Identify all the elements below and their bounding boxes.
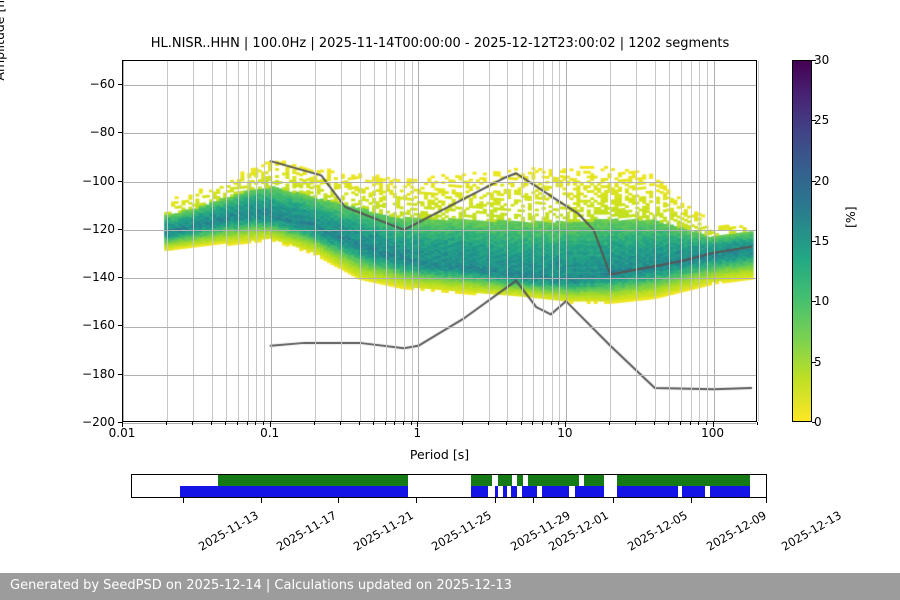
gridline-vertical — [395, 61, 396, 421]
gridline-vertical — [271, 61, 272, 421]
gridline-vertical — [123, 61, 124, 421]
timeline-tick-mark — [416, 498, 417, 503]
gridline-vertical — [552, 61, 553, 421]
gridline-vertical — [522, 61, 523, 421]
timeline-segment-green — [218, 475, 408, 486]
gridline-vertical — [655, 61, 656, 421]
y-axis-tick-label: −100 — [82, 174, 115, 188]
y-axis-label: Amplitude [m²/s⁴/Hz] [dB] — [0, 0, 7, 110]
timeline-segment-blue — [710, 486, 750, 497]
footer-text: Generated by SeedPSD on 2025-12-14 | Cal… — [10, 578, 512, 593]
psd-plot-area — [122, 60, 757, 422]
gridline-vertical — [256, 61, 257, 421]
timeline-date-label: 2025-11-25 — [429, 508, 494, 554]
gridline-horizontal — [123, 230, 756, 231]
timeline-segment-green — [498, 475, 512, 486]
gridline-vertical — [226, 61, 227, 421]
timeline-segment-blue — [542, 486, 569, 497]
y-axis-tick-mark — [118, 132, 122, 133]
colorbar — [792, 60, 812, 422]
gridline-vertical — [412, 61, 413, 421]
gridline-horizontal — [123, 182, 756, 183]
x-axis-tick-mark — [247, 422, 248, 425]
x-axis-tick-mark — [757, 422, 758, 425]
colorbar-tick-mark — [812, 301, 816, 302]
timeline-segment-green — [517, 475, 523, 486]
x-axis-tick-mark — [417, 422, 418, 427]
x-axis-tick-mark — [565, 422, 566, 427]
timeline-segment-blue — [180, 486, 408, 497]
x-axis-tick-mark — [340, 422, 341, 425]
gridline-vertical — [212, 61, 213, 421]
y-axis-tick-label: −80 — [90, 125, 115, 139]
timeline-tick-mark — [183, 498, 184, 503]
gridline-vertical — [758, 61, 759, 421]
gridline-vertical — [559, 61, 560, 421]
y-axis-tick-mark — [118, 181, 122, 182]
gridline-vertical — [681, 61, 682, 421]
gridline-vertical — [238, 61, 239, 421]
x-axis-tick-mark — [263, 422, 264, 425]
x-axis-tick-mark — [192, 422, 193, 425]
gridline-vertical — [315, 61, 316, 421]
timeline-date-label: 2025-12-13 — [779, 508, 844, 554]
timeline-tick-mark — [338, 498, 339, 503]
x-axis-tick-mark — [558, 422, 559, 425]
x-axis-tick-mark — [255, 422, 256, 425]
timeline-segment-blue — [511, 486, 517, 497]
y-axis-tick-mark — [118, 229, 122, 230]
timeline-date-label: 2025-12-05 — [625, 508, 690, 554]
timeline-segment-green — [528, 475, 579, 486]
gridline-vertical — [707, 61, 708, 421]
timeline-tick-mark — [533, 498, 534, 503]
colorbar-tick-mark — [812, 362, 816, 363]
timeline-segment-blue — [471, 486, 488, 497]
x-axis-tick-mark — [488, 422, 489, 425]
x-axis-tick-mark — [532, 422, 533, 425]
x-axis-tick-mark — [166, 422, 167, 425]
gridline-vertical — [360, 61, 361, 421]
footer-bar: Generated by SeedPSD on 2025-12-14 | Cal… — [0, 573, 900, 600]
x-axis-tick-mark — [394, 422, 395, 425]
timeline-tick-mark — [495, 498, 496, 503]
y-axis-tick-label: −180 — [82, 367, 115, 381]
colorbar-tick-label: 25 — [814, 113, 829, 127]
timeline-segment-blue — [522, 486, 538, 497]
timeline-segment-green — [617, 475, 750, 486]
gridline-vertical — [714, 61, 715, 421]
colorbar-tick-mark — [812, 60, 816, 61]
colorbar-tick-mark — [812, 181, 816, 182]
x-axis-tick-mark — [373, 422, 374, 425]
gridline-vertical — [533, 61, 534, 421]
x-axis-tick-mark — [706, 422, 707, 425]
x-axis-tick-mark — [506, 422, 507, 425]
y-axis-tick-mark — [118, 277, 122, 278]
timeline-segment-green — [584, 475, 604, 486]
gridline-horizontal — [123, 133, 756, 134]
x-axis-tick-mark — [654, 422, 655, 425]
gridline-vertical — [264, 61, 265, 421]
colorbar-tick-label: 10 — [814, 294, 829, 308]
gridline-horizontal — [123, 423, 756, 424]
gridline-vertical — [636, 61, 637, 421]
timeline-date-label: 2025-11-21 — [351, 508, 416, 554]
colorbar-label: [%] — [843, 206, 858, 228]
y-axis-tick-mark — [118, 325, 122, 326]
colorbar-tick-label: 30 — [814, 53, 829, 67]
x-axis-tick-mark — [359, 422, 360, 425]
x-axis-tick-mark — [122, 422, 123, 427]
data-availability-timeline[interactable] — [131, 474, 767, 498]
timeline-segment-blue — [575, 486, 604, 497]
noise-model-curves — [123, 61, 758, 423]
gridline-vertical — [374, 61, 375, 421]
colorbar-tick-label: 15 — [814, 234, 829, 248]
timeline-segment-blue — [495, 486, 498, 497]
gridline-vertical — [669, 61, 670, 421]
timeline-segment-blue — [617, 486, 678, 497]
x-axis-tick-mark — [690, 422, 691, 425]
y-axis-tick-label: −160 — [82, 318, 115, 332]
gridline-horizontal — [123, 375, 756, 376]
x-axis-tick-label: 100 — [701, 426, 724, 440]
gridline-vertical — [404, 61, 405, 421]
x-axis-tick-mark — [411, 422, 412, 425]
x-axis-tick-mark — [635, 422, 636, 425]
x-axis-tick-mark — [270, 422, 271, 427]
gridline-vertical — [418, 61, 419, 421]
x-axis-tick-mark — [314, 422, 315, 425]
gridline-vertical — [248, 61, 249, 421]
timeline-tick-mark — [766, 498, 767, 503]
timeline-tick-mark — [613, 498, 614, 503]
gridline-vertical — [566, 61, 567, 421]
gridline-vertical — [507, 61, 508, 421]
gridline-vertical — [699, 61, 700, 421]
x-axis-tick-mark — [609, 422, 610, 425]
colorbar-tick-mark — [812, 120, 816, 121]
x-axis-tick-mark — [385, 422, 386, 425]
y-axis-tick-mark — [118, 374, 122, 375]
x-axis-tick-label: 10 — [557, 426, 572, 440]
x-axis-tick-mark — [211, 422, 212, 425]
colorbar-tick-mark — [812, 241, 816, 242]
x-axis-tick-mark — [521, 422, 522, 425]
gridline-horizontal — [123, 278, 756, 279]
x-axis-tick-mark — [551, 422, 552, 425]
x-axis-tick-mark — [713, 422, 714, 427]
gridline-vertical — [341, 61, 342, 421]
x-axis-tick-mark — [462, 422, 463, 425]
timeline-tick-mark — [261, 498, 262, 503]
x-axis-label: Period [s] — [122, 447, 757, 462]
x-axis-tick-mark — [698, 422, 699, 425]
timeline-date-label: 2025-11-13 — [196, 508, 261, 554]
gridline-vertical — [543, 61, 544, 421]
timeline-tick-mark — [691, 498, 692, 503]
x-axis-tick-label: 0.1 — [260, 426, 279, 440]
gridline-horizontal — [123, 327, 756, 328]
x-axis-tick-mark — [237, 422, 238, 425]
gridline-vertical — [463, 61, 464, 421]
timeline-segment-green — [471, 475, 492, 486]
gridline-vertical — [167, 61, 168, 421]
gridline-vertical — [193, 61, 194, 421]
timeline-segment-blue — [503, 486, 507, 497]
gridline-vertical — [691, 61, 692, 421]
x-axis-tick-mark — [668, 422, 669, 425]
timeline-date-label: 2025-11-17 — [274, 508, 339, 554]
colorbar-tick-mark — [812, 422, 816, 423]
x-axis-tick-label: 0.01 — [109, 426, 136, 440]
x-axis-tick-mark — [680, 422, 681, 425]
x-axis-tick-mark — [542, 422, 543, 425]
x-axis-tick-mark — [225, 422, 226, 425]
x-axis-tick-mark — [403, 422, 404, 425]
y-axis-tick-label: −120 — [82, 222, 115, 236]
colorbar-tick-label: 20 — [814, 174, 829, 188]
y-axis-tick-mark — [118, 84, 122, 85]
timeline-date-label: 2025-12-09 — [704, 508, 769, 554]
gridline-vertical — [610, 61, 611, 421]
y-axis-tick-label: −140 — [82, 270, 115, 284]
page-title: HL.NISR..HHN | 100.0Hz | 2025-11-14T00:0… — [122, 36, 758, 51]
gridline-vertical — [489, 61, 490, 421]
y-axis-tick-label: −60 — [90, 77, 115, 91]
x-axis-tick-label: 1 — [413, 426, 421, 440]
gridline-vertical — [386, 61, 387, 421]
timeline-segment-blue — [682, 486, 705, 497]
gridline-horizontal — [123, 85, 756, 86]
